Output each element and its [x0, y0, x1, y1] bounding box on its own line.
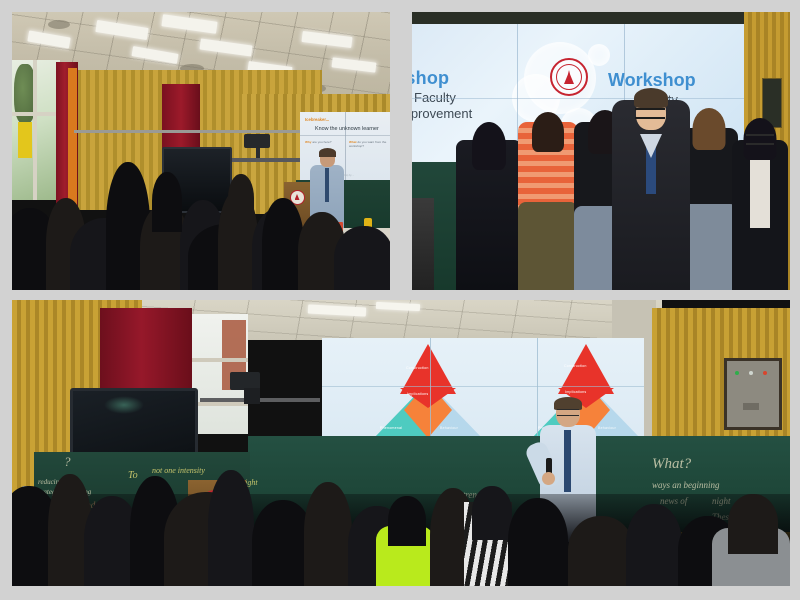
- presenter-tie: [325, 168, 329, 202]
- lecture-room-photo: Icebreaker... Know the unknown learner W…: [12, 12, 390, 290]
- group-portrait-photo: rkshop Faculty mprovement Workshop Facul…: [412, 12, 790, 290]
- person-2: [518, 98, 578, 290]
- audience-head: [228, 174, 254, 224]
- slide-column-1-text: are you here?: [312, 140, 331, 144]
- person-6-blouse: [750, 150, 770, 228]
- audience-head: [508, 498, 568, 586]
- presenter-hair: [319, 148, 336, 157]
- chalk-note: ?: [64, 454, 71, 470]
- audience-head: [472, 486, 512, 540]
- person-1-hair: [472, 122, 506, 170]
- panel-button[interactable]: [743, 403, 759, 410]
- person-4-hair: [634, 88, 668, 108]
- projector-mount: [244, 388, 260, 404]
- chalk-note: ways an beginning: [652, 480, 720, 490]
- glasses-icon: [635, 108, 665, 119]
- wall-control-panel[interactable]: [724, 358, 782, 430]
- chalk-note: not one intensity: [152, 466, 205, 475]
- audience-head: [152, 172, 182, 232]
- person-5-hair: [693, 108, 726, 150]
- presenter-tie: [564, 430, 571, 492]
- presenter-hand: [542, 472, 555, 485]
- glasses-icon: [557, 409, 579, 416]
- projector: [244, 134, 270, 148]
- audience-head: [568, 516, 634, 586]
- display-glow: [104, 396, 144, 414]
- slide-column-1: Why are you here?: [305, 140, 343, 144]
- projector-rail: [224, 158, 306, 162]
- audience-head: [208, 470, 254, 586]
- person-1: [456, 104, 522, 290]
- photo-collage: Icebreaker... Know the unknown learner W…: [0, 0, 800, 600]
- glasses-icon: [746, 134, 774, 145]
- person-2-hair: [532, 112, 564, 152]
- person-6: [732, 100, 788, 290]
- wall-rail: [74, 130, 324, 133]
- wall-poster: [18, 122, 32, 158]
- chalk-note: To: [128, 470, 138, 481]
- ceiling-vent: [48, 20, 70, 29]
- chalk-note: What?: [652, 456, 691, 473]
- slide-title: Know the unknown learner: [315, 126, 379, 132]
- person-2-legs: [518, 202, 578, 290]
- audience-head: [728, 494, 778, 554]
- wide-classroom-photo: Construction Implications Phenomenal Beh…: [12, 300, 790, 586]
- slide-kicker: Icebreaker...: [305, 117, 329, 122]
- audience-head: [334, 226, 390, 290]
- status-led-red: [763, 371, 767, 375]
- lectern: [412, 198, 434, 290]
- status-led-green: [735, 371, 739, 375]
- status-led-white: [749, 371, 753, 375]
- person-4: [612, 78, 690, 290]
- slide-column-2: What do you want from the workshop?: [349, 140, 389, 148]
- projector-rail: [200, 398, 320, 402]
- audience-head: [304, 482, 352, 586]
- projector-mount: [256, 148, 260, 158]
- audience-head: [388, 496, 426, 546]
- audience-head: [626, 504, 682, 586]
- slide-column-1-label: Why: [305, 140, 312, 144]
- orange-strip: [68, 68, 77, 208]
